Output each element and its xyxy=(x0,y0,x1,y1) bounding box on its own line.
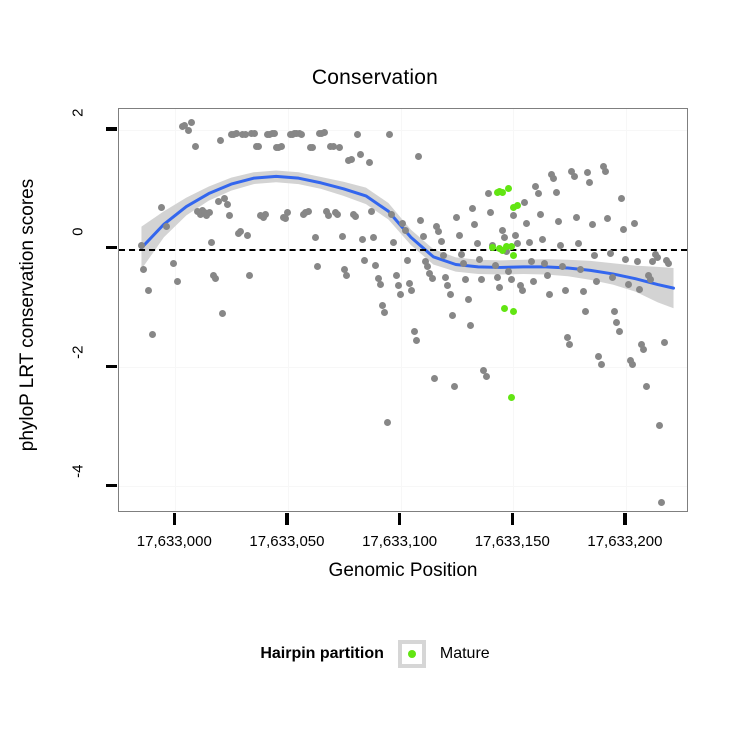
scatter-point-other xyxy=(325,212,332,219)
x-tick-mark xyxy=(623,513,627,525)
scatter-point-other xyxy=(476,256,483,263)
scatter-point-other xyxy=(348,156,355,163)
scatter-point-other xyxy=(188,119,195,126)
scatter-point-other xyxy=(458,251,465,258)
scatter-point-other xyxy=(415,153,422,160)
gridline-vertical xyxy=(626,109,627,511)
y-tick-label: 0 xyxy=(70,227,87,267)
x-tick-label: 17,633,150 xyxy=(452,533,572,550)
y-tick-label: -4 xyxy=(70,465,87,505)
y-tick-label: -2 xyxy=(70,346,87,386)
scatter-point-other xyxy=(562,287,569,294)
scatter-point-other xyxy=(462,276,469,283)
scatter-point-other xyxy=(158,204,165,211)
scatter-point-other xyxy=(593,278,600,285)
scatter-point-other xyxy=(453,214,460,221)
gridline-horizontal xyxy=(119,130,687,131)
scatter-point-other xyxy=(397,291,404,298)
scatter-point-other xyxy=(390,239,397,246)
scatter-point-other xyxy=(309,144,316,151)
scatter-point-other xyxy=(595,353,602,360)
scatter-point-other xyxy=(613,319,620,326)
scatter-point-other xyxy=(478,276,485,283)
scatter-point-other xyxy=(442,274,449,281)
scatter-point-other xyxy=(492,262,499,269)
scatter-point-other xyxy=(521,199,528,206)
y-axis-title: phyloP LRT conservation scores xyxy=(17,105,39,525)
scatter-point-other xyxy=(334,211,341,218)
scatter-point-other xyxy=(550,175,557,182)
scatter-point-other xyxy=(602,168,609,175)
scatter-point-other xyxy=(386,131,393,138)
scatter-point-other xyxy=(598,361,605,368)
scatter-point-other xyxy=(343,272,350,279)
y-tick-label: 2 xyxy=(70,108,87,148)
gridline-vertical xyxy=(175,109,176,511)
scatter-point-other xyxy=(575,240,582,247)
scatter-point-other xyxy=(217,137,224,144)
scatter-point-other xyxy=(417,217,424,224)
scatter-point-other xyxy=(501,234,508,241)
scatter-point-other xyxy=(368,208,375,215)
scatter-point-other xyxy=(388,211,395,218)
scatter-point-other xyxy=(361,257,368,264)
legend-key-mature[interactable] xyxy=(398,640,426,668)
x-tick-mark xyxy=(398,513,402,525)
scatter-point-other xyxy=(589,221,596,228)
scatter-point-other xyxy=(618,195,625,202)
scatter-point-other xyxy=(537,211,544,218)
scatter-point-other xyxy=(535,190,542,197)
scatter-point-other xyxy=(546,291,553,298)
y-tick-mark xyxy=(106,127,117,131)
scatter-point-other xyxy=(505,268,512,275)
scatter-point-other xyxy=(647,276,654,283)
scatter-point-other xyxy=(424,263,431,270)
scatter-point-other xyxy=(408,287,415,294)
scatter-point-other xyxy=(530,278,537,285)
scatter-point-other xyxy=(219,310,226,317)
scatter-point-other xyxy=(449,312,456,319)
scatter-point-other xyxy=(661,339,668,346)
x-axis-title: Genomic Position xyxy=(118,560,688,582)
scatter-point-other xyxy=(526,239,533,246)
scatter-point-other xyxy=(372,262,379,269)
scatter-point-other xyxy=(634,258,641,265)
scatter-point-other xyxy=(512,232,519,239)
x-tick-mark xyxy=(173,513,177,525)
scatter-point-other xyxy=(305,208,312,215)
legend-title: Hairpin partition xyxy=(260,645,384,663)
scatter-point-other xyxy=(395,282,402,289)
scatter-point-other xyxy=(471,221,478,228)
conservation-plot-figure: Conservation phyloP LRT conservation sco… xyxy=(0,0,750,750)
scatter-point-other xyxy=(604,215,611,222)
plot-panel xyxy=(118,108,688,512)
scatter-point-other xyxy=(485,190,492,197)
scatter-point-other xyxy=(541,260,548,267)
scatter-point-other xyxy=(559,263,566,270)
scatter-point-other xyxy=(514,240,521,247)
scatter-point-other xyxy=(208,239,215,246)
scatter-point-other xyxy=(460,260,467,267)
scatter-point-mature xyxy=(508,394,515,401)
scatter-point-other xyxy=(487,209,494,216)
scatter-point-other xyxy=(447,291,454,298)
scatter-point-mature xyxy=(510,252,517,259)
scatter-point-other xyxy=(622,256,629,263)
scatter-point-other xyxy=(384,419,391,426)
zero-reference-line xyxy=(119,249,687,251)
scatter-point-other xyxy=(566,341,573,348)
x-tick-label: 17,633,200 xyxy=(565,533,685,550)
scatter-point-other xyxy=(469,205,476,212)
scatter-point-other xyxy=(284,209,291,216)
x-tick-mark xyxy=(285,513,289,525)
x-tick-label: 17,633,050 xyxy=(227,533,347,550)
scatter-point-other xyxy=(192,143,199,150)
scatter-point-other xyxy=(494,274,501,281)
scatter-point-other xyxy=(564,334,571,341)
scatter-point-other xyxy=(226,212,233,219)
scatter-point-other xyxy=(465,296,472,303)
scatter-point-other xyxy=(224,201,231,208)
scatter-point-other xyxy=(528,258,535,265)
x-tick-label: 17,633,000 xyxy=(114,533,234,550)
scatter-point-other xyxy=(658,499,665,506)
scatter-point-other xyxy=(440,252,447,259)
scatter-point-other xyxy=(431,375,438,382)
scatter-point-other xyxy=(420,233,427,240)
scatter-point-other xyxy=(321,129,328,136)
scatter-point-other xyxy=(467,322,474,329)
scatter-point-other xyxy=(377,281,384,288)
scatter-point-other xyxy=(145,287,152,294)
scatter-point-other xyxy=(591,252,598,259)
scatter-point-other xyxy=(212,275,219,282)
scatter-point-other xyxy=(170,260,177,267)
scatter-point-other xyxy=(474,240,481,247)
scatter-point-other xyxy=(611,308,618,315)
scatter-point-other xyxy=(429,275,436,282)
scatter-point-other xyxy=(609,274,616,281)
scatter-point-other xyxy=(393,272,400,279)
scatter-point-other xyxy=(625,281,632,288)
gridline-vertical xyxy=(401,109,402,511)
scatter-point-other xyxy=(402,227,409,234)
scatter-point-other xyxy=(577,266,584,273)
scatter-point-other xyxy=(640,346,647,353)
y-tick-mark xyxy=(106,246,117,250)
scatter-point-other xyxy=(636,286,643,293)
scatter-point-other xyxy=(523,220,530,227)
x-tick-label: 17,633,100 xyxy=(340,533,460,550)
scatter-point-other xyxy=(262,211,269,218)
scatter-point-other xyxy=(246,272,253,279)
legend-label-mature: Mature xyxy=(440,645,490,663)
scatter-point-other xyxy=(206,209,213,216)
scatter-point-other xyxy=(496,284,503,291)
scatter-point-other xyxy=(413,337,420,344)
scatter-point-other xyxy=(163,223,170,230)
scatter-point-other xyxy=(174,278,181,285)
scatter-point-other xyxy=(553,189,560,196)
scatter-point-other xyxy=(580,288,587,295)
legend-dot-icon xyxy=(408,650,416,658)
scatter-point-other xyxy=(140,266,147,273)
scatter-point-mature xyxy=(508,243,515,250)
scatter-point-other xyxy=(255,143,262,150)
smooth-confidence-ribbon xyxy=(141,170,673,308)
scatter-point-other xyxy=(314,263,321,270)
scatter-point-other xyxy=(438,238,445,245)
scatter-point-other xyxy=(508,276,515,283)
scatter-point-other xyxy=(185,127,192,134)
legend: Hairpin partition Mature xyxy=(0,640,750,668)
scatter-point-mature xyxy=(514,202,521,209)
scatter-point-other xyxy=(654,254,661,261)
scatter-point-other xyxy=(584,169,591,176)
scatter-point-other xyxy=(406,280,413,287)
scatter-point-other xyxy=(451,383,458,390)
scatter-point-other xyxy=(379,302,386,309)
scatter-point-other xyxy=(352,213,359,220)
scatter-point-other xyxy=(510,212,517,219)
x-tick-mark xyxy=(511,513,515,525)
scatter-point-other xyxy=(544,272,551,279)
scatter-point-other xyxy=(381,309,388,316)
scatter-point-other xyxy=(312,234,319,241)
scatter-point-mature xyxy=(505,185,512,192)
scatter-point-other xyxy=(456,232,463,239)
page-title: Conservation xyxy=(0,66,750,90)
y-tick-mark xyxy=(106,365,117,369)
scatter-point-other xyxy=(539,236,546,243)
scatter-point-other xyxy=(435,228,442,235)
scatter-point-other xyxy=(656,422,663,429)
scatter-point-other xyxy=(149,331,156,338)
scatter-point-other xyxy=(366,159,373,166)
scatter-point-other xyxy=(336,144,343,151)
scatter-point-other xyxy=(555,218,562,225)
scatter-point-mature xyxy=(501,305,508,312)
scatter-point-other xyxy=(631,220,638,227)
scatter-point-other xyxy=(411,328,418,335)
scatter-point-mature xyxy=(510,308,517,315)
scatter-point-other xyxy=(404,257,411,264)
scatter-point-other xyxy=(278,143,285,150)
scatter-point-other xyxy=(532,183,539,190)
scatter-point-other xyxy=(571,173,578,180)
scatter-point-other xyxy=(399,220,406,227)
scatter-point-other xyxy=(582,308,589,315)
scatter-point-other xyxy=(357,151,364,158)
scatter-point-other xyxy=(251,130,258,137)
gridline-vertical xyxy=(288,109,289,511)
y-tick-mark xyxy=(106,484,117,488)
scatter-point-other xyxy=(483,373,490,380)
scatter-point-other xyxy=(271,130,278,137)
scatter-point-other xyxy=(573,214,580,221)
gridline-horizontal xyxy=(119,486,687,487)
scatter-point-other xyxy=(298,131,305,138)
scatter-point-other xyxy=(643,383,650,390)
scatter-point-other xyxy=(444,282,451,289)
scatter-point-other xyxy=(339,233,346,240)
scatter-point-other xyxy=(519,287,526,294)
scatter-point-other xyxy=(499,227,506,234)
scatter-point-other xyxy=(665,260,672,267)
scatter-point-other xyxy=(359,236,366,243)
scatter-point-other xyxy=(370,234,377,241)
scatter-point-other xyxy=(607,250,614,257)
scatter-point-other xyxy=(616,328,623,335)
scatter-point-other xyxy=(244,232,251,239)
scatter-point-other xyxy=(586,179,593,186)
scatter-point-other xyxy=(354,131,361,138)
